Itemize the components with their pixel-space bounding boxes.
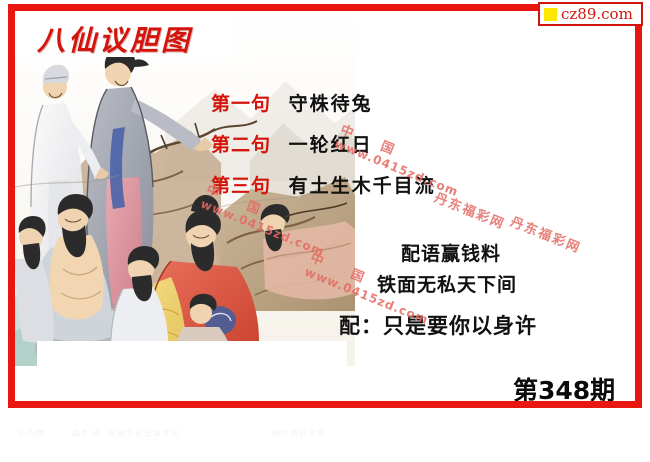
verse-text-1: 守株待兔 — [289, 93, 373, 115]
footer-strip: 公告牌 高手 论 坛高手论坛高手论 图片资料大全 — [0, 408, 650, 462]
verse-text-2: 一轮红日 — [289, 134, 373, 156]
verse-line-3: 第三句 有土生木千目流 — [211, 171, 436, 198]
watermark-site: 丹东福彩网 — [508, 211, 585, 257]
badge-site-label: cz89.com — [561, 7, 633, 22]
footer-text-1: 公告牌 — [18, 428, 45, 439]
badge-square-icon — [544, 8, 557, 21]
footer-text-4: 坛高手论坛高手论 — [108, 428, 180, 439]
couplet-line-3: 配：只是要你以身许 — [339, 310, 537, 340]
couplet-line-2: 铁面无私天下间 — [377, 270, 517, 297]
watermark-cn2-label: 丹东福彩网 — [508, 211, 585, 257]
poster-root: 八仙议胆图 中 国 www.0415zd.com 丹东福彩网 中 国 www.0… — [0, 0, 650, 462]
couplet-line-1: 配语赢钱料 — [401, 239, 501, 266]
footer-text-3: 论 — [92, 428, 101, 439]
poster-canvas: 八仙议胆图 中 国 www.0415zd.com 丹东福彩网 中 国 www.0… — [15, 11, 635, 401]
verse-label-2: 第二句 — [211, 134, 271, 156]
blank-note-panel — [37, 341, 347, 401]
footer-text-2: 高手 — [72, 428, 90, 439]
poster-frame: 八仙议胆图 中 国 www.0415zd.com 丹东福彩网 中 国 www.0… — [8, 4, 642, 408]
verse-label-1: 第一句 — [211, 93, 271, 115]
footer-text-5: 图片资料大全 — [272, 428, 326, 439]
watermark-site: 丹东福彩网 — [432, 187, 509, 233]
issue-number: 第348期 — [513, 371, 615, 401]
verse-label-3: 第三句 — [211, 175, 271, 197]
site-badge[interactable]: cz89.com — [538, 2, 643, 26]
verse-text-3: 有土生木千目流 — [289, 175, 436, 197]
page-title: 八仙议胆图 — [37, 19, 192, 59]
verse-line-1: 第一句 守株待兔 — [211, 89, 373, 116]
verse-line-2: 第二句 一轮红日 — [211, 130, 373, 157]
watermark-cn2-label: 丹东福彩网 — [432, 187, 509, 233]
